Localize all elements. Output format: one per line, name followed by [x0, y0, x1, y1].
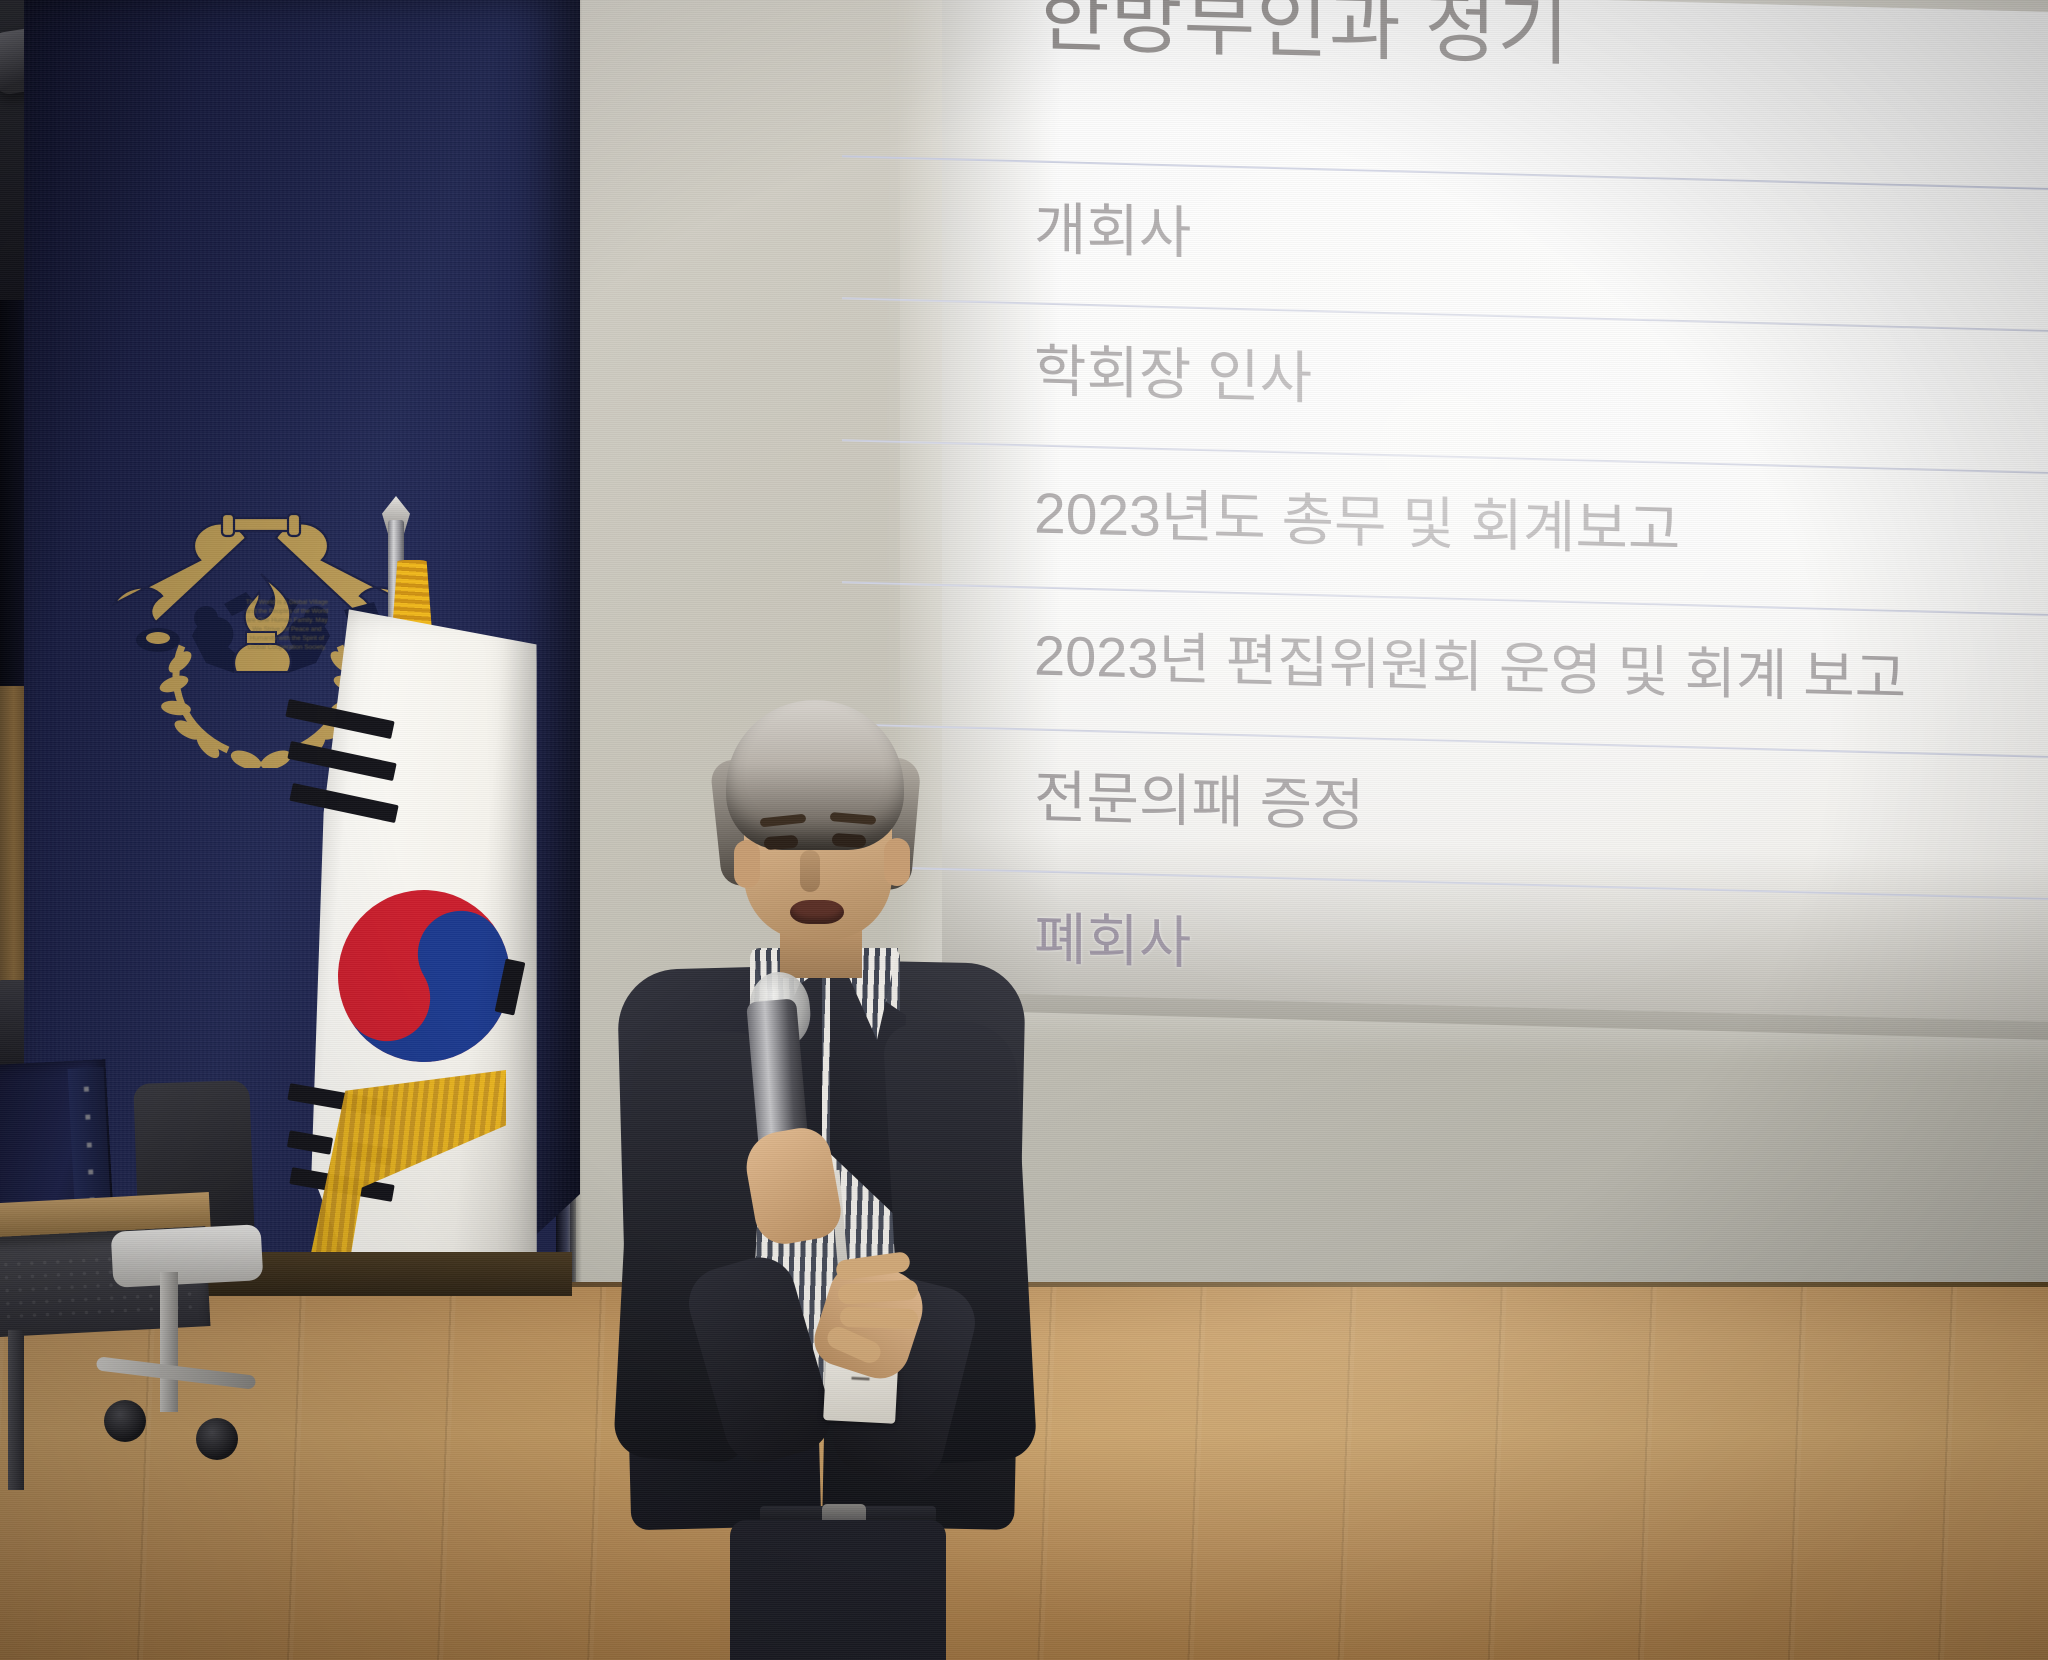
eye-left	[764, 835, 799, 850]
mouth	[790, 900, 844, 924]
office-chair-post	[160, 1272, 178, 1412]
eye-right	[832, 833, 867, 848]
agenda-item-label: 2023년도 총무 및 회계보고	[1034, 482, 1680, 562]
photo-scene: The World is a Global Village and the Pe…	[0, 0, 2048, 1660]
emblem-motto-text: The World is a Global Village and the Pe…	[244, 598, 330, 690]
ear-right	[884, 838, 910, 886]
office-chair-wheel	[196, 1418, 238, 1460]
finger	[840, 1307, 919, 1330]
trousers	[730, 1520, 946, 1660]
ear-left	[734, 840, 760, 888]
agenda-item-label: 전문의패 증정	[1034, 766, 1364, 838]
office-chair-seat	[111, 1224, 264, 1288]
hair	[726, 700, 904, 850]
table-leg	[8, 1330, 24, 1490]
agenda-item-label: 학회장 인사	[1034, 340, 1312, 410]
slide-content: 한방부인과 정기 개회사 학회장 인사 2023년도 총무 및 회계보고 202…	[942, 0, 2048, 1023]
agenda-item-label: 폐회사	[1034, 908, 1191, 975]
slide-agenda-list: 개회사 학회장 인사 2023년도 총무 및 회계보고 2023년 편집위원회 …	[842, 155, 2048, 1043]
speaker-person: ▬▬▬▬▬▬▬	[640, 700, 1020, 1660]
agenda-item-label: 개회사	[1034, 198, 1191, 265]
nose	[800, 850, 820, 892]
slide-title: 한방부인과 정기	[1038, 0, 2048, 95]
office-chair-wheel	[104, 1400, 146, 1442]
agenda-item-label: 2023년 편집위원회 운영 및 회계 보고	[1034, 624, 1906, 709]
